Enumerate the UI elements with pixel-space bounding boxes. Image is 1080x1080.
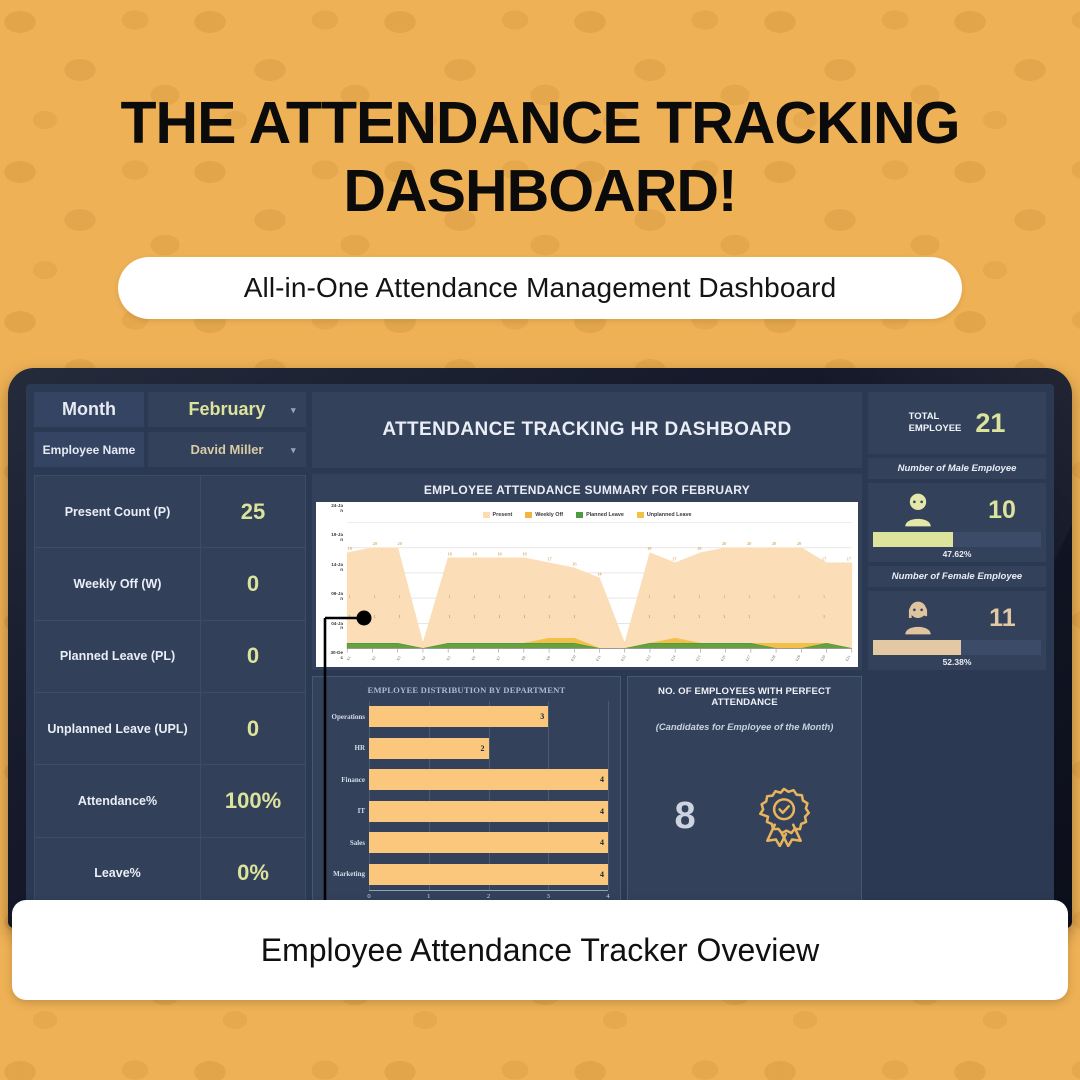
attendance-summary-title: EMPLOYEE ATTENDANCE SUMMARY FOR FEBRUARY: [316, 480, 858, 502]
legend-label: Planned Leave: [586, 512, 624, 518]
svg-text:1: 1: [773, 594, 775, 599]
bar-track: 3: [369, 706, 608, 727]
svg-text:E5: E5: [446, 655, 452, 661]
svg-text:E13: E13: [645, 655, 651, 662]
x-tick-label: 1: [427, 893, 430, 900]
svg-text:1: 1: [573, 614, 575, 619]
table-row: Planned Leave (PL) 0: [35, 621, 305, 693]
female-employee-count: 11: [989, 604, 1015, 633]
svg-text:E3: E3: [396, 655, 402, 661]
svg-text:20: 20: [772, 541, 776, 546]
attendance-summary-card: EMPLOYEE ATTENDANCE SUMMARY FOR FEBRUARY…: [312, 474, 862, 670]
employee-filter-label: Employee Name: [34, 432, 144, 467]
bar-value-label: 4: [600, 807, 608, 816]
svg-text:1: 1: [698, 614, 700, 619]
svg-text:E10: E10: [570, 655, 576, 662]
total-employee-card: TOTAL EMPLOYEE 21: [868, 392, 1046, 454]
svg-text:2: 2: [573, 594, 575, 599]
svg-text:1: 1: [673, 614, 675, 619]
svg-text:1: 1: [474, 594, 476, 599]
legend-item: Unplanned Leave: [637, 512, 692, 518]
svg-text:1: 1: [648, 594, 650, 599]
legend-swatch: [576, 512, 583, 518]
svg-text:E17: E17: [745, 655, 751, 662]
table-row: Attendance% 100%: [35, 765, 305, 837]
y-tick-label: 14-Jan: [331, 563, 343, 573]
department-bar-chart: Operations3HR2Finance4IT4Sales4Marketing…: [319, 699, 614, 906]
svg-text:18: 18: [472, 551, 476, 556]
month-filter-label: Month: [34, 392, 144, 427]
svg-text:1: 1: [399, 594, 401, 599]
y-tick-label: 19-Jan: [331, 533, 343, 543]
svg-text:18: 18: [522, 551, 526, 556]
svg-text:E11: E11: [595, 655, 601, 662]
svg-text:1: 1: [648, 614, 650, 619]
svg-text:14: 14: [597, 571, 602, 576]
metric-label: Planned Leave (PL): [35, 621, 201, 692]
legend-swatch: [637, 512, 644, 518]
svg-text:1: 1: [548, 614, 550, 619]
month-filter-value: February: [188, 399, 265, 420]
female-avatar-icon: [898, 598, 938, 638]
department-distribution-card: EMPLOYEE DISTRIBUTION BY DEPARTMENT Oper…: [312, 676, 621, 910]
svg-text:20: 20: [722, 541, 726, 546]
page-title-line2: DASHBOARD!: [60, 164, 1020, 218]
legend-item: Planned Leave: [576, 512, 624, 518]
svg-text:1: 1: [698, 594, 700, 599]
right-sidebar: TOTAL EMPLOYEE 21 Number of Male Employe…: [868, 392, 1046, 910]
bar-category-label: Operations: [319, 713, 369, 721]
metrics-table: Present Count (P) 25 Weekly Off (W) 0 Pl…: [34, 475, 306, 910]
svg-text:E6: E6: [471, 655, 477, 661]
metric-label: Attendance%: [35, 765, 201, 836]
bar-category-label: Sales: [319, 839, 369, 847]
female-employee-row: 11: [873, 596, 1041, 640]
svg-text:1: 1: [499, 594, 501, 599]
svg-text:20: 20: [747, 541, 751, 546]
table-row: Operations3: [319, 701, 608, 733]
y-tick-label: 30-Dec: [330, 651, 343, 661]
total-employee-label-line1: TOTAL: [909, 411, 962, 423]
employee-filter-select[interactable]: David Miller ▾: [148, 432, 306, 467]
svg-text:1: 1: [748, 594, 750, 599]
svg-text:19: 19: [647, 546, 651, 551]
svg-text:20: 20: [373, 541, 377, 546]
svg-text:E16: E16: [720, 655, 726, 662]
metric-value: 25: [201, 476, 305, 547]
employee-filter-row: Employee Name David Miller ▾: [34, 432, 306, 467]
svg-text:E18: E18: [770, 655, 776, 662]
bar-value-label: 4: [600, 870, 608, 879]
metric-value: 0%: [201, 838, 305, 909]
female-percent-bar: [873, 640, 1041, 655]
month-filter-select[interactable]: February ▾: [148, 392, 306, 427]
legend-swatch: [483, 512, 490, 518]
svg-text:1: 1: [474, 614, 476, 619]
y-tick-label: 09-Jan: [331, 592, 343, 602]
bar-value-label: 4: [600, 775, 608, 784]
chart-y-axis: 24-Jan19-Jan14-Jan09-Jan04-Jan30-Dec: [318, 504, 344, 651]
area-chart-labels: 1911201120111811181118111811172116211419…: [316, 502, 858, 667]
male-employee-count: 10: [988, 496, 1016, 525]
bar-track: 2: [369, 738, 608, 759]
svg-text:2: 2: [673, 594, 675, 599]
bar-value-label: 2: [481, 744, 489, 753]
month-filter-row: Month February ▾: [34, 392, 306, 427]
bar-track: 4: [369, 769, 608, 790]
svg-text:E12: E12: [620, 655, 626, 662]
male-avatar-icon: [898, 490, 938, 530]
bar: 4: [369, 832, 608, 853]
center-column: ATTENDANCE TRACKING HR DASHBOARD EMPLOYE…: [312, 392, 862, 910]
x-tick-label: 4: [606, 893, 609, 900]
legend-label: Weekly Off: [535, 512, 563, 518]
department-bar-rows: Operations3HR2Finance4IT4Sales4Marketing…: [319, 701, 608, 890]
department-chart-title: EMPLOYEE DISTRIBUTION BY DEPARTMENT: [319, 682, 614, 699]
svg-text:1: 1: [823, 594, 825, 599]
chart-legend: PresentWeekly OffPlanned LeaveUnplanned …: [316, 512, 858, 518]
table-row: Weekly Off (W) 0: [35, 548, 305, 620]
svg-text:E19: E19: [795, 655, 801, 662]
bar-track: 4: [369, 801, 608, 822]
table-row: Unplanned Leave (UPL) 0: [35, 693, 305, 765]
tablet-device-frame: Month February ▾ Employee Name David Mil…: [8, 368, 1072, 928]
svg-text:1: 1: [748, 614, 750, 619]
chevron-down-icon[interactable]: ▾: [291, 407, 297, 413]
perfect-attendance-subtitle: (Candidates for Employee of the Month): [656, 721, 834, 732]
perfect-attendance-value: 8: [675, 795, 696, 838]
svg-text:17: 17: [847, 556, 852, 561]
female-employee-card: 11 52.38%: [868, 591, 1046, 670]
caption-bar: Employee Attendance Tracker Oveview: [12, 900, 1068, 1000]
svg-text:19: 19: [348, 546, 352, 551]
y-tick-label: 04-Jan: [331, 622, 343, 632]
total-employee-label: TOTAL EMPLOYEE: [909, 411, 962, 435]
legend-item: Present: [483, 512, 513, 518]
svg-text:1: 1: [823, 614, 825, 619]
svg-text:1: 1: [723, 614, 725, 619]
perfect-attendance-body: 8: [636, 732, 853, 900]
svg-text:E1: E1: [346, 655, 352, 661]
x-tick-label: 3: [547, 893, 550, 900]
attendance-area-chart: PresentWeekly OffPlanned LeaveUnplanned …: [316, 502, 858, 667]
svg-text:19: 19: [697, 546, 701, 551]
legend-label: Unplanned Leave: [647, 512, 692, 518]
svg-text:17: 17: [547, 556, 552, 561]
svg-text:1: 1: [798, 594, 800, 599]
metric-value: 0: [201, 621, 305, 692]
male-employee-row: 10: [873, 488, 1041, 532]
lower-row: EMPLOYEE DISTRIBUTION BY DEPARTMENT Oper…: [312, 676, 862, 910]
female-employee-heading: Number of Female Employee: [868, 566, 1046, 587]
svg-text:E8: E8: [521, 655, 527, 661]
svg-text:1: 1: [349, 614, 351, 619]
male-employee-card: 10 47.62%: [868, 483, 1046, 562]
male-percent-bar: [873, 532, 1041, 547]
svg-text:E20: E20: [820, 655, 826, 662]
x-tick-label: 0: [367, 893, 370, 900]
bar: 3: [369, 706, 548, 727]
svg-text:1: 1: [449, 594, 451, 599]
legend-label: Present: [493, 512, 513, 518]
female-percent-bar-fill: [873, 640, 961, 655]
svg-text:1: 1: [374, 594, 376, 599]
metric-label: Present Count (P): [35, 476, 201, 547]
bar-track: 4: [369, 864, 608, 885]
employee-filter-value: David Miller: [191, 442, 264, 457]
bar-track: 4: [369, 832, 608, 853]
svg-text:1: 1: [499, 614, 501, 619]
page-title-line1: THE ATTENDANCE TRACKING: [60, 96, 1020, 150]
male-percent-label: 47.62%: [873, 547, 1041, 559]
left-sidebar: Month February ▾ Employee Name David Mil…: [34, 392, 306, 910]
page-title: THE ATTENDANCE TRACKING DASHBOARD!: [0, 96, 1080, 219]
metric-label: Unplanned Leave (UPL): [35, 693, 201, 764]
table-row: Finance4: [319, 764, 608, 796]
total-employee-value: 21: [975, 408, 1005, 439]
metric-value: 0: [201, 548, 305, 619]
svg-text:1: 1: [523, 614, 525, 619]
subtitle-pill: All-in-One Attendance Management Dashboa…: [118, 257, 962, 319]
x-tick-label: 2: [487, 893, 490, 900]
svg-text:E21: E21: [845, 655, 851, 662]
award-ribbon-icon: [753, 785, 815, 847]
bar-category-label: Marketing: [319, 870, 369, 878]
svg-text:20: 20: [797, 541, 801, 546]
svg-text:18: 18: [447, 551, 451, 556]
svg-text:1: 1: [399, 614, 401, 619]
perfect-attendance-card: NO. OF EMPLOYEES WITH PERFECT ATTENDANCE…: [627, 676, 862, 910]
caption-text: Employee Attendance Tracker Oveview: [261, 932, 820, 969]
metric-value: 0: [201, 693, 305, 764]
svg-text:E9: E9: [546, 655, 552, 661]
bar: 4: [369, 801, 608, 822]
dashboard-title: ATTENDANCE TRACKING HR DASHBOARD: [312, 392, 862, 468]
table-row: IT4: [319, 796, 608, 828]
table-row: Sales4: [319, 827, 608, 859]
bar-category-label: Finance: [319, 776, 369, 784]
table-row: HR2: [319, 733, 608, 765]
bar: 2: [369, 738, 489, 759]
svg-text:17: 17: [672, 556, 677, 561]
svg-text:18: 18: [497, 551, 501, 556]
svg-text:1: 1: [349, 594, 351, 599]
metric-label: Weekly Off (W): [35, 548, 201, 619]
metric-label: Leave%: [35, 838, 201, 909]
svg-text:17: 17: [822, 556, 827, 561]
svg-text:1: 1: [449, 614, 451, 619]
table-row: Leave% 0%: [35, 838, 305, 909]
female-percent-label: 52.38%: [873, 655, 1041, 667]
svg-text:2: 2: [548, 594, 550, 599]
svg-text:E2: E2: [371, 655, 377, 661]
svg-text:E4: E4: [421, 655, 427, 661]
bar-value-label: 4: [600, 838, 608, 847]
subtitle-text: All-in-One Attendance Management Dashboa…: [244, 272, 837, 304]
male-percent-bar-fill: [873, 532, 953, 547]
bar-category-label: IT: [319, 807, 369, 815]
perfect-attendance-title: NO. OF EMPLOYEES WITH PERFECT ATTENDANCE: [636, 686, 853, 708]
table-row: Present Count (P) 25: [35, 476, 305, 548]
bar: 4: [369, 864, 608, 885]
svg-text:20: 20: [398, 541, 402, 546]
svg-text:16: 16: [572, 561, 577, 566]
svg-text:E14: E14: [670, 655, 676, 662]
svg-text:1: 1: [523, 594, 525, 599]
svg-text:E7: E7: [496, 655, 502, 661]
male-employee-heading: Number of Male Employee: [868, 458, 1046, 479]
legend-item: Weekly Off: [525, 512, 563, 518]
legend-swatch: [525, 512, 532, 518]
bar: 4: [369, 769, 608, 790]
bar-value-label: 3: [540, 712, 548, 721]
bar-category-label: HR: [319, 744, 369, 752]
table-row: Marketing4: [319, 859, 608, 891]
svg-text:1: 1: [723, 594, 725, 599]
total-employee-label-line2: EMPLOYEE: [909, 423, 962, 435]
chevron-down-icon[interactable]: ▾: [291, 447, 297, 453]
svg-text:1: 1: [374, 614, 376, 619]
svg-text:E15: E15: [695, 655, 701, 662]
dashboard-screen: Month February ▾ Employee Name David Mil…: [26, 384, 1054, 918]
metric-value: 100%: [201, 765, 305, 836]
